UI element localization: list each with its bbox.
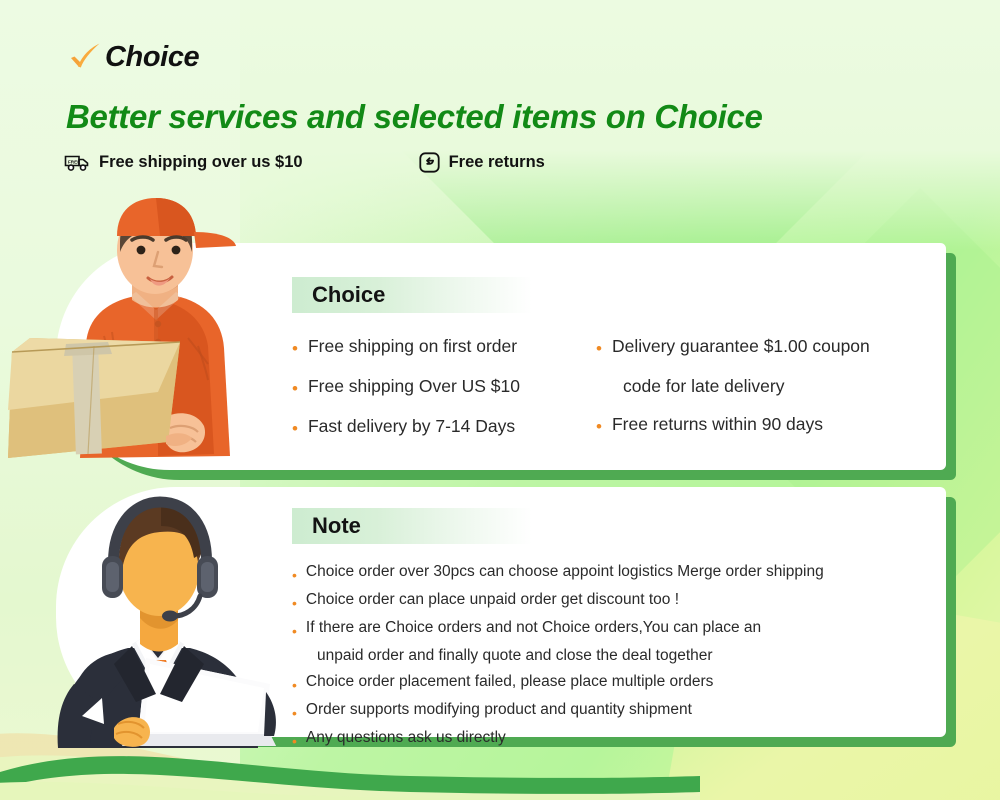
perk-free-shipping: FREE Free shipping over us $10 [64,153,303,173]
note-card-heading-band: Note [292,508,532,544]
list-item-label: If there are Choice orders and not Choic… [306,619,761,636]
list-item: • Choice order over 30pcs can choose app… [292,563,932,582]
perk-free-returns: Free returns [419,152,545,173]
list-item-label: Free shipping on first order [308,337,517,357]
choice-card-heading: Choice [292,282,385,308]
bullet-dot-icon: • [292,420,298,437]
choice-card-heading-band: Choice [292,277,532,313]
page-title: Better services and selected items on Ch… [66,98,763,136]
bullet-dot-icon: • [292,596,297,610]
list-item-label: Fast delivery by 7-14 Days [308,417,515,437]
delivery-man-illustration [8,196,278,472]
list-item-label: Any questions ask us directly [306,729,506,746]
bullet-dot-icon: • [292,568,297,582]
choice-benefits-column-left: • Free shipping on first order • Free sh… [292,337,592,457]
list-item-continuation: unpaid order and finally quote and close… [292,647,932,664]
orange-check-icon [68,40,103,74]
bullet-dot-icon: • [292,380,298,397]
banner-stage: Choice Better services and selected item… [0,0,1000,800]
banner-header: Choice Better services and selected item… [0,0,1000,200]
list-item-label: Choice order can place unpaid order get … [306,591,679,608]
bullet-dot-icon: • [292,706,297,720]
perk-free-returns-label: Free returns [449,153,545,172]
list-item-label: Choice order placement failed, please pl… [306,673,714,690]
list-item: • Free returns within 90 days [596,415,936,435]
list-item: • Fast delivery by 7-14 Days [292,417,592,437]
perk-free-shipping-label: Free shipping over us $10 [99,153,303,172]
list-item: • Delivery guarantee $1.00 coupon code f… [596,337,936,397]
perks-row: FREE Free shipping over us $10 Free retu… [64,152,545,173]
list-item-label: Delivery guarantee $1.00 coupon [612,337,870,357]
bullet-dot-icon: • [292,678,297,692]
list-item: • Choice order placement failed, please … [292,673,932,692]
svg-text:FREE: FREE [68,159,80,164]
list-item: • If there are Choice orders and not Cho… [292,619,932,664]
bullet-dot-icon: • [292,734,297,748]
bullet-dot-icon: • [292,340,298,357]
list-item-label: Choice order over 30pcs can choose appoi… [306,563,824,580]
list-item-label: Free returns within 90 days [612,415,823,435]
list-item: • Free shipping Over US $10 [292,377,592,397]
list-item: • Order supports modifying product and q… [292,701,932,720]
list-item: • Free shipping on first order [292,337,592,357]
choice-benefits-column-right: • Delivery guarantee $1.00 coupon code f… [596,337,936,455]
bullet-dot-icon: • [596,340,602,357]
list-item: • Choice order can place unpaid order ge… [292,591,932,610]
list-item-label: Order supports modifying product and qua… [306,701,692,718]
support-agent-illustration [18,492,286,748]
brand-logo-text: Choice [105,43,199,72]
bullet-dot-icon: • [596,418,602,435]
free-shipping-truck-icon: FREE [64,153,90,173]
bullet-dot-icon: • [292,624,297,638]
free-returns-icon [419,152,440,173]
list-item-continuation: code for late delivery [596,377,936,397]
list-item: • Any questions ask us directly [292,729,932,748]
note-card-heading: Note [292,513,361,539]
note-list: • Choice order over 30pcs can choose app… [292,563,932,757]
list-item-label: Free shipping Over US $10 [308,377,520,397]
brand-logo: Choice [68,40,199,74]
